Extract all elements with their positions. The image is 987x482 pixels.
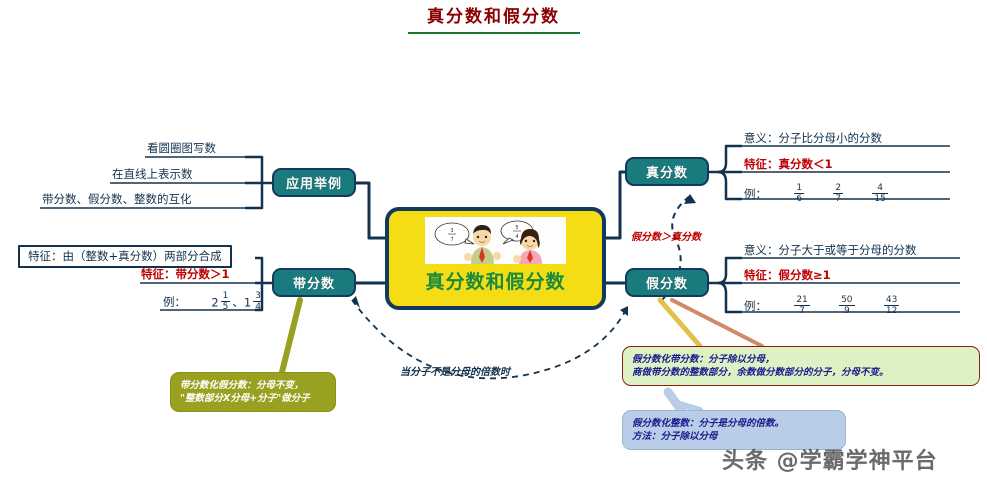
branch-node-mixed[interactable]: 带分数 bbox=[272, 268, 356, 297]
improper-example-2-frac: 4312 bbox=[884, 295, 899, 316]
children-fraction-illustration: 3 7 5 4 bbox=[425, 217, 566, 264]
proper-example-1-num: 2 bbox=[833, 183, 843, 193]
improper-examples: 例： 217 509 4312 bbox=[744, 296, 901, 317]
proper-example-label: 例： bbox=[744, 187, 767, 201]
proper-example-0-frac: 16 bbox=[794, 183, 804, 204]
improper-example-1-den: 9 bbox=[839, 305, 854, 316]
mixed-example-0-whole: 2 bbox=[211, 296, 218, 310]
improper-example-1-num: 50 bbox=[839, 295, 854, 305]
proper-example-0-num: 1 bbox=[794, 183, 804, 193]
mindmap-canvas: 真分数和假分数 3 7 5 4 bbox=[0, 0, 987, 482]
callout-improper-to-mixed-line1: 假分数化带分数：分子除以分母， bbox=[632, 353, 970, 366]
proper-example-2-num: 4 bbox=[872, 183, 887, 193]
callout-mixed-to-improper: 带分数化假分数：分母不变， "整数部分X分母+分子"做分子 bbox=[170, 372, 336, 412]
apply-item-2: 带分数、假分数、整数的互化 bbox=[42, 192, 192, 206]
branch-node-apply-label: 应用举例 bbox=[286, 173, 342, 192]
improper-example-1-frac: 509 bbox=[839, 295, 854, 316]
improper-example-0-num: 21 bbox=[794, 295, 809, 305]
annotation-compare: 假分数＞真分数 bbox=[631, 228, 701, 243]
proper-examples: 例： 16 27 415 bbox=[744, 184, 890, 205]
proper-example-1-den: 7 bbox=[833, 193, 843, 204]
improper-feature-red: 特征：假分数≥1 bbox=[744, 268, 831, 282]
apply-item-1: 在直线上表示数 bbox=[112, 167, 193, 181]
mixed-example-1-num: 3 bbox=[253, 291, 263, 301]
mixed-example-0-den: 5 bbox=[221, 301, 231, 312]
watermark: 头条 @学霸学神平台 bbox=[722, 443, 938, 475]
mixed-example-1-den: 4 bbox=[253, 301, 263, 312]
branch-node-apply[interactable]: 应用举例 bbox=[272, 168, 356, 197]
proper-example-1-frac: 27 bbox=[833, 183, 843, 204]
improper-example-2-num: 43 bbox=[884, 295, 899, 305]
svg-text:7: 7 bbox=[450, 237, 453, 243]
improper-example-0-frac: 217 bbox=[794, 295, 809, 316]
center-node-label: 真分数和假分数 bbox=[425, 267, 565, 294]
page-title: 真分数和假分数 bbox=[0, 6, 987, 28]
mixed-example-1-frac: 34 bbox=[253, 291, 263, 312]
branch-node-proper[interactable]: 真分数 bbox=[625, 157, 709, 186]
improper-meaning: 意义：分子大于或等于分母的分数 bbox=[744, 243, 917, 257]
mixed-feature-boxed: 特征：由（整数+真分数）两部分合成 bbox=[18, 245, 232, 268]
branch-node-improper-label: 假分数 bbox=[646, 273, 688, 292]
callout-improper-to-integer-line2: 方法：分子除以分母 bbox=[632, 430, 836, 443]
annotation-when-not-multiple: 当分子不是分母的倍数时 bbox=[400, 363, 510, 378]
apply-item-0: 看圆圈图写数 bbox=[147, 141, 216, 155]
improper-example-label: 例： bbox=[744, 299, 767, 313]
proper-example-2-den: 15 bbox=[872, 193, 887, 204]
mixed-example-label: 例： bbox=[163, 295, 186, 309]
center-node[interactable]: 3 7 5 4 bbox=[385, 207, 606, 310]
callout-improper-to-mixed: 假分数化带分数：分子除以分母， 商做带分数的整数部分，余数做分数部分的分子，分母… bbox=[622, 346, 980, 386]
callout-mixed-to-improper-line1: 带分数化假分数：分母不变， bbox=[180, 379, 326, 392]
mixed-examples: 例： 215、134 bbox=[163, 292, 265, 313]
mixed-example-1-whole: 1 bbox=[244, 296, 251, 310]
svg-text:3: 3 bbox=[450, 228, 453, 234]
branch-node-proper-label: 真分数 bbox=[646, 162, 688, 181]
mixed-example-0-num: 1 bbox=[221, 291, 231, 301]
callout-mixed-to-improper-line2: "整数部分X分母+分子"做分子 bbox=[180, 392, 326, 405]
mixed-example-0-frac: 15 bbox=[221, 291, 231, 312]
branch-node-improper[interactable]: 假分数 bbox=[625, 268, 709, 297]
svg-text:5: 5 bbox=[515, 225, 518, 231]
proper-example-0-den: 6 bbox=[794, 193, 804, 204]
proper-meaning: 意义：分子比分母小的分数 bbox=[744, 131, 882, 145]
mixed-feature-red: 特征：带分数＞1 bbox=[141, 267, 230, 281]
proper-feature-red: 特征：真分数＜1 bbox=[744, 157, 833, 171]
proper-example-2-frac: 415 bbox=[872, 183, 887, 204]
improper-example-2-den: 12 bbox=[884, 305, 899, 316]
improper-example-0-den: 7 bbox=[794, 305, 809, 316]
title-underline bbox=[408, 32, 580, 34]
svg-text:4: 4 bbox=[515, 234, 518, 240]
branch-node-mixed-label: 带分数 bbox=[293, 273, 335, 292]
callout-improper-to-mixed-line2: 商做带分数的整数部分，余数做分数部分的分子，分母不变。 bbox=[632, 366, 970, 379]
mixed-example-separator: 、 bbox=[232, 295, 244, 309]
page-title-wrap: 真分数和假分数 bbox=[0, 6, 987, 34]
callout-improper-to-integer-line1: 假分数化整数：分子是分母的倍数。 bbox=[632, 417, 836, 430]
